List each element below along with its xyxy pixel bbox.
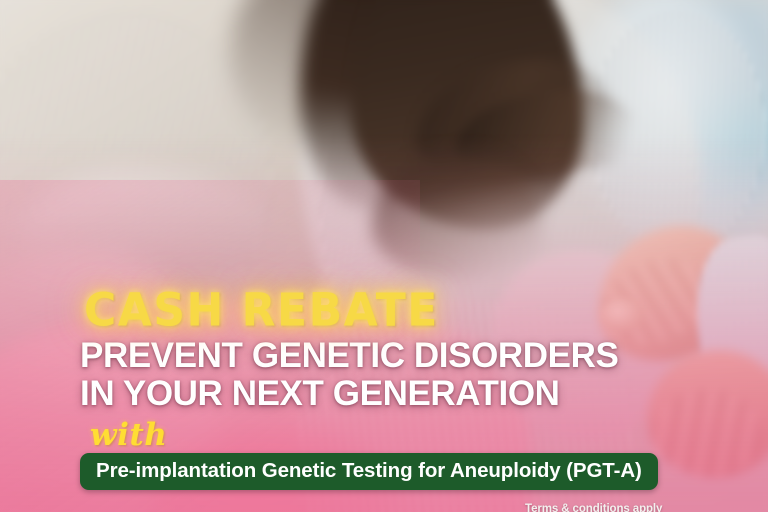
service-badge: Pre-implantation Genetic Testing for Ane… [80, 453, 658, 490]
headline-line-2: IN YOUR NEXT GENERATION [80, 374, 720, 414]
offer-label: CASH REBATE [84, 288, 720, 334]
headline-line-1: PREVENT GENETIC DISORDERS [80, 336, 720, 376]
connector-word: with [90, 420, 720, 451]
disclaimer-text: Terms & conditions apply [525, 503, 662, 512]
copy-block: CASH REBATE PREVENT GENETIC DISORDERS IN… [80, 288, 720, 490]
promo-poster: CASH REBATE PREVENT GENETIC DISORDERS IN… [0, 0, 768, 512]
